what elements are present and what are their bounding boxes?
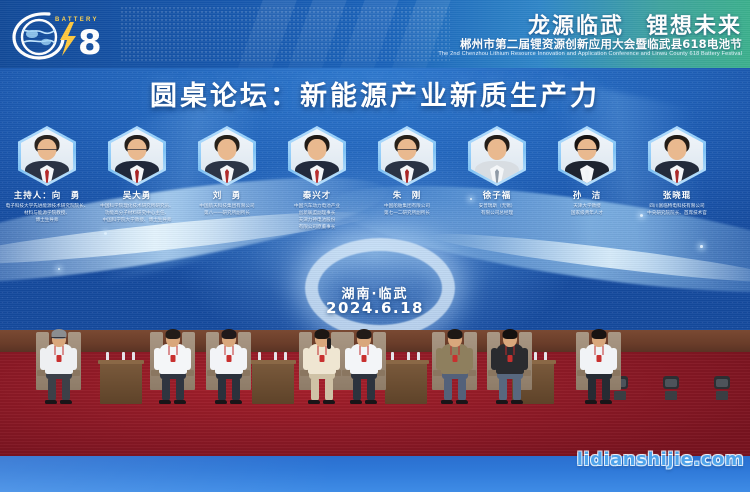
panelist-title: 安普瑞斯（无锡）有限公司总经理 [452,203,542,217]
panelist-photo-frame [108,126,166,186]
panelist-photo-frame [198,126,256,186]
venue-date: 2024.6.18 [0,299,750,317]
panelist-photo-frame [648,126,706,186]
glow-dot [58,268,60,270]
panelist-card: 吴大勇中国科学院理化技术研究所研究员、功能高分子材料研究中心主任、中国科学院大学… [92,126,182,224]
photo-face [308,139,327,160]
panelist-title: 电子科技大学先进能源技术研究院院长、材料与能源学院教授、博士生导师 [2,203,92,224]
header-diagonal-stripe [280,0,354,68]
event-title-main: 龙源临武锂想未来 [528,8,742,40]
panelist-title: 天津大学教授国家级青年人才 [542,203,632,217]
photo-face [668,139,687,160]
event-header-banner: 8 BATTERY 龙源临武锂想未来 郴州市第二届锂资源创新应用大会暨临武县61… [0,0,750,68]
glasses-icon [577,149,597,152]
glow-dot [700,245,703,248]
globe-battery-logo-icon: 8 [8,8,123,60]
panelist-photo-frame [558,126,616,186]
header-diagonal-stripe [230,0,304,68]
panelist-photo-frame [468,126,526,186]
glasses-icon [37,149,57,152]
panelist-card: 孙 洁天津大学教授国家级青年人才 [542,126,632,217]
panelist-photo-frame [288,126,346,186]
panelist-card: 主持人：向 勇电子科技大学先进能源技术研究院院长、材料与能源学院教授、博士生导师 [2,126,92,224]
panelist-title: 中国船舶集团有限公司第七一二研究所副所长 [362,203,452,217]
header-diagonal-stripe [384,0,458,68]
photo-face [488,139,507,160]
red-carpet-stage [0,352,750,460]
logo-wordmark: BATTERY [55,17,99,23]
event-title-right: 锂想未来 [646,14,742,39]
glasses-icon [397,149,417,152]
panelist-card: 张晓琨四川富临特电科技有限公司中央研究院院长、首席技术官 [632,126,722,217]
panelist-title: 中国汽车动力电池产业创新联盟副理事长天津力神电池股份有限公司原董事长 [272,203,362,231]
photo-face [218,139,237,160]
svg-text:8: 8 [78,23,102,60]
panelist-title: 中国航天科技集团有限公司第八一一研究所副所长 [182,203,272,217]
stage-back-wall-band [0,330,750,352]
panelist-name: 朱 刚 [362,189,452,201]
panelist-card: 秦兴才中国汽车动力电池产业创新联盟副理事长天津力神电池股份有限公司原董事长 [272,126,362,231]
panelist-portrait-row: 主持人：向 勇电子科技大学先进能源技术研究院院长、材料与能源学院教授、博士生导师… [0,126,750,236]
panelist-photo-frame [18,126,76,186]
panelist-name: 刘 勇 [182,189,272,201]
event-title-english: The 2nd Chenzhou Lithium Resource Innova… [438,51,742,57]
header-dot-texture [120,6,450,62]
event-title-sub: 郴州市第二届锂资源创新应用大会暨临武县618电池节 [460,36,742,52]
panelist-name: 秦兴才 [272,189,362,201]
event-title-left: 龙源临武 [528,14,624,39]
panelist-card: 刘 勇中国航天科技集团有限公司第八一一研究所副所长 [182,126,272,217]
panelist-name: 吴大勇 [92,189,182,201]
panelist-name: 主持人：向 勇 [2,189,92,201]
panelist-card: 朱 刚中国船舶集团有限公司第七一二研究所副所长 [362,126,452,217]
forum-title: 圆桌论坛：新能源产业新质生产力 [0,74,750,113]
battery-festival-logo: 8 BATTERY [8,8,123,60]
panelist-card: 徐子福安普瑞斯（无锡）有限公司总经理 [452,126,542,217]
panelist-name: 张晓琨 [632,189,722,201]
panelist-title: 四川富临特电科技有限公司中央研究院院长、首席技术官 [632,203,722,217]
panelist-photo-frame [378,126,436,186]
panelist-name: 徐子福 [452,189,542,201]
conference-stage-photo: 8 BATTERY 龙源临武锂想未来 郴州市第二届锂资源创新应用大会暨临武县61… [0,0,750,492]
site-watermark: lidianshijie.com [577,449,744,470]
panelist-name: 孙 洁 [542,189,632,201]
header-diagonal-stripe [332,0,406,68]
panelist-title: 中国科学院理化技术研究所研究员、功能高分子材料研究中心主任、中国科学院大学教授、… [92,203,182,224]
glasses-icon [127,149,147,152]
